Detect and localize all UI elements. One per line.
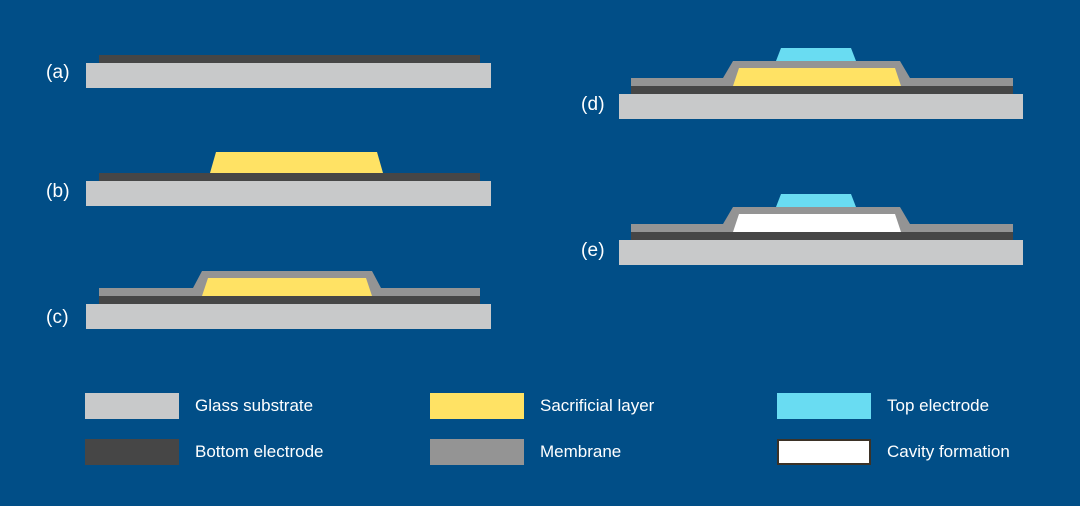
panel-d-sacrificial-layer <box>733 68 901 86</box>
panel-b <box>86 152 491 206</box>
legend-item-membrane: Membrane <box>430 439 621 465</box>
panel-a-bottom-electrode <box>99 55 480 64</box>
panel-label-e: (e) <box>581 240 605 262</box>
legend-label-top-electrode: Top electrode <box>887 396 989 416</box>
panel-label-d: (d) <box>581 94 605 116</box>
legend-swatch-glass-substrate <box>85 393 179 419</box>
legend-column-2: Sacrificial layer Membrane <box>430 380 770 480</box>
legend-item-top-electrode: Top electrode <box>777 393 989 419</box>
legend: Glass substrate Bottom electrode Sacrifi… <box>0 380 1080 480</box>
legend-item-cavity-formation: Cavity formation <box>777 439 1010 465</box>
legend-item-bottom-electrode: Bottom electrode <box>85 439 324 465</box>
panel-c-glass-substrate <box>86 304 491 329</box>
legend-item-sacrificial-layer: Sacrificial layer <box>430 393 654 419</box>
legend-swatch-top-electrode <box>777 393 871 419</box>
panel-e-bottom-electrode <box>631 232 1013 241</box>
legend-column-1: Glass substrate Bottom electrode <box>85 380 425 480</box>
panel-b-glass-substrate <box>86 181 491 206</box>
legend-label-bottom-electrode: Bottom electrode <box>195 442 324 462</box>
panel-label-c: (c) <box>46 307 69 329</box>
legend-label-sacrificial-layer: Sacrificial layer <box>540 396 654 416</box>
panel-d-top-electrode <box>776 48 856 61</box>
legend-label-membrane: Membrane <box>540 442 621 462</box>
panel-d-bottom-electrode <box>631 86 1013 95</box>
panel-e <box>619 194 1023 265</box>
panel-e-cavity-formation <box>733 214 901 232</box>
legend-swatch-membrane <box>430 439 524 465</box>
panel-e-top-electrode <box>776 194 856 207</box>
legend-swatch-sacrificial-layer <box>430 393 524 419</box>
panel-a-glass-substrate <box>86 63 491 88</box>
panel-d-glass-substrate <box>619 94 1023 119</box>
panel-a <box>86 55 491 88</box>
panel-b-bottom-electrode <box>99 173 480 182</box>
panel-c-sacrificial-layer <box>202 278 372 296</box>
panel-c-bottom-electrode <box>99 296 480 305</box>
legend-label-cavity-formation: Cavity formation <box>887 442 1010 462</box>
legend-swatch-bottom-electrode <box>85 439 179 465</box>
panel-label-b: (b) <box>46 181 70 203</box>
panel-d <box>619 48 1023 119</box>
legend-column-3: Top electrode Cavity formation <box>777 380 1080 480</box>
legend-label-glass-substrate: Glass substrate <box>195 396 313 416</box>
panel-b-sacrificial-layer <box>210 152 383 173</box>
panel-c <box>86 271 491 329</box>
panel-label-a: (a) <box>46 62 70 84</box>
legend-swatch-cavity-formation <box>777 439 871 465</box>
legend-item-glass-substrate: Glass substrate <box>85 393 313 419</box>
panel-e-glass-substrate <box>619 240 1023 265</box>
